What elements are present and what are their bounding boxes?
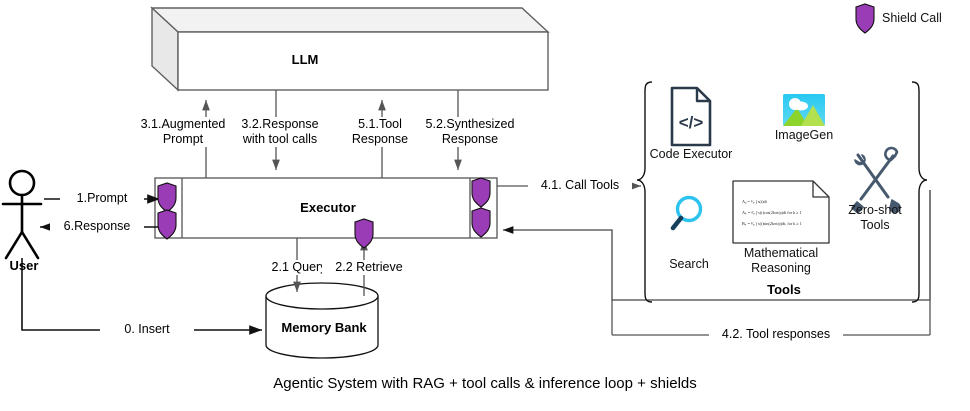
edge-label-synthesized-response: 5.2.Synthesized Response (416, 117, 524, 147)
edge-label-tool-responses: 4.2. Tool responses (709, 327, 843, 342)
tools-group-brace-right (912, 82, 927, 302)
tool-caption-code-executor: Code Executor (621, 147, 761, 162)
edge-label-tool-response: 5.1.Tool Response (336, 117, 424, 147)
edge-label-insert: 0. Insert (100, 322, 194, 337)
figure-caption: Agentic System with RAG + tool calls & i… (0, 375, 970, 392)
edge-label-prompt: 1.Prompt (60, 191, 144, 206)
edge-label-retrieve: 2.2 Retrieve (322, 260, 416, 275)
edge-label-response-tool-calls: 3.2.Response with tool calls (226, 117, 334, 147)
code-executor-icon[interactable]: </> (672, 88, 710, 145)
edge-label-response-user: 6.Response (50, 219, 144, 234)
tool-caption-imagegen: ImageGen (744, 128, 864, 143)
edge-label-augmented-prompt: 3.1.Augmented Prompt (133, 117, 233, 147)
imagegen-icon[interactable] (783, 94, 825, 126)
memory-bank-label: Memory Bank (242, 320, 406, 335)
tools-group-label: Tools (722, 282, 846, 297)
executor-label: Executor (256, 200, 400, 215)
tool-caption-math-reasoning: Mathematical Reasoning (716, 246, 846, 276)
shield-icon-retrieve[interactable] (355, 219, 373, 248)
search-icon[interactable] (673, 198, 701, 229)
edge-label-call-tools: 4.1. Call Tools (528, 178, 632, 193)
llm-label: LLM (243, 52, 367, 67)
svg-text:</>: </> (679, 113, 704, 132)
user-node[interactable] (3, 171, 41, 258)
math-reasoning-icon[interactable]: A₀ = ¹⁄ₚ ∫ s(t)dt Aₖ = ²⁄ₚ ∫ s(t)cos(2kπ… (733, 181, 829, 243)
legend-shield-label: Shield Call (882, 11, 970, 26)
llm-node[interactable] (152, 8, 548, 90)
diagram-canvas: </> A₀ = ¹⁄ₚ ∫ s(t)dt Aₖ = ²⁄ₚ ∫ s(t)cos… (0, 0, 970, 411)
user-label: User (0, 258, 71, 273)
shield-icon-legend (856, 4, 874, 33)
tool-caption-zero-shot-tools: Zero-shot Tools (820, 203, 930, 233)
